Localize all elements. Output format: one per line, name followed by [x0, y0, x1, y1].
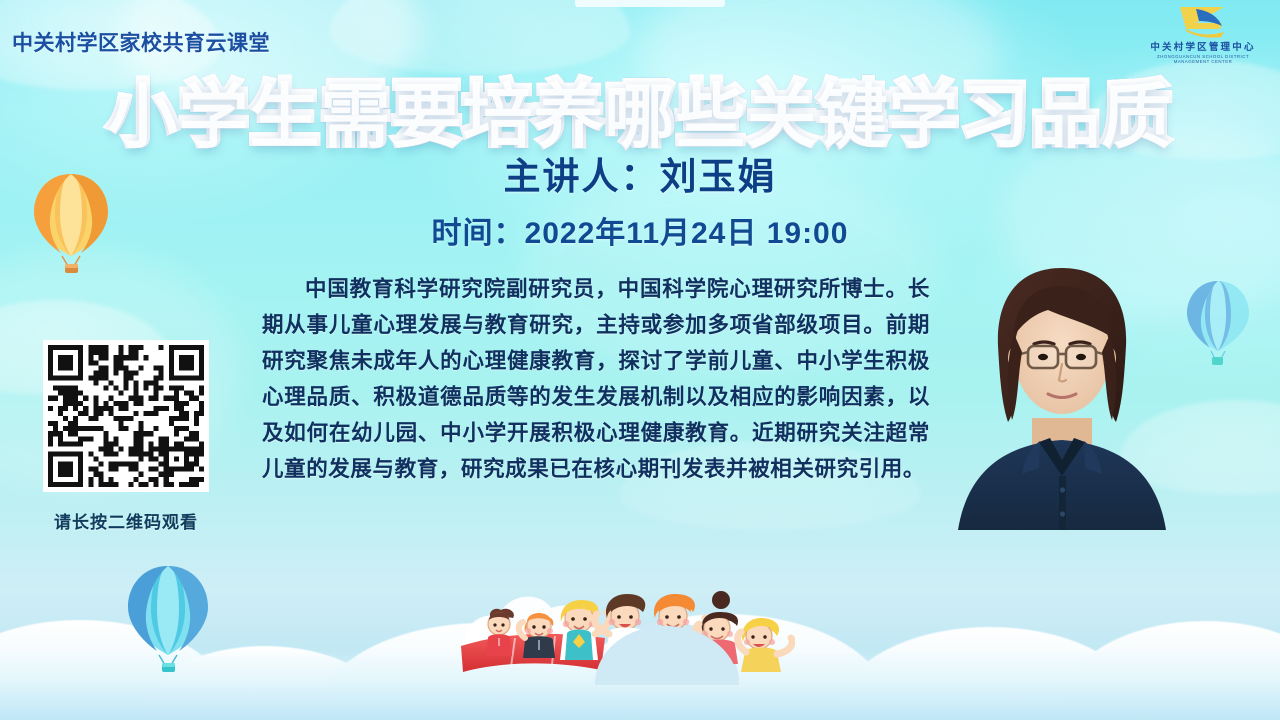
top-notch-bar [575, 0, 725, 7]
cloud-bump-6 [1060, 621, 1280, 720]
logo-mark-icon [1140, 4, 1266, 38]
organization-logo: 中关村学区管理中心 ZHONGGUANCUN SCHOOL DISTRICT M… [1140, 4, 1266, 66]
brand-line: 中关村学区家校共育云课堂 [12, 27, 270, 57]
logo-cn-name: 中关村学区管理中心 [1140, 39, 1266, 53]
qr-code-image [43, 340, 209, 492]
qr-code-block: 请长按二维码观看 [43, 340, 209, 533]
speaker-line: 主讲人：刘玉娟 [0, 146, 1280, 200]
children-illustration [455, 560, 795, 685]
hot-air-balloon-blue-icon [1182, 278, 1254, 370]
avatar [944, 242, 1180, 530]
page-title-text: 小学生需要培养哪些关键学习品质 [108, 73, 1173, 155]
cloud-bump-5 [840, 627, 1140, 720]
qr-code-caption: 请长按二维码观看 [43, 508, 209, 533]
page-title: 小学生需要培养哪些关键学习品质 [0, 58, 1280, 159]
hot-air-balloon-orange-icon [28, 170, 114, 274]
hot-air-balloon-cyan-icon [122, 562, 214, 674]
speaker-bio: 中国教育科学研究院副研究员，中国科学院心理研究所博士。长期从事儿童心理发展与教育… [262, 272, 930, 488]
webinar-poster: 中关村学区家校共育云课堂 中关村学区管理中心 ZHONGGUANCUN SCHO… [0, 0, 1280, 720]
